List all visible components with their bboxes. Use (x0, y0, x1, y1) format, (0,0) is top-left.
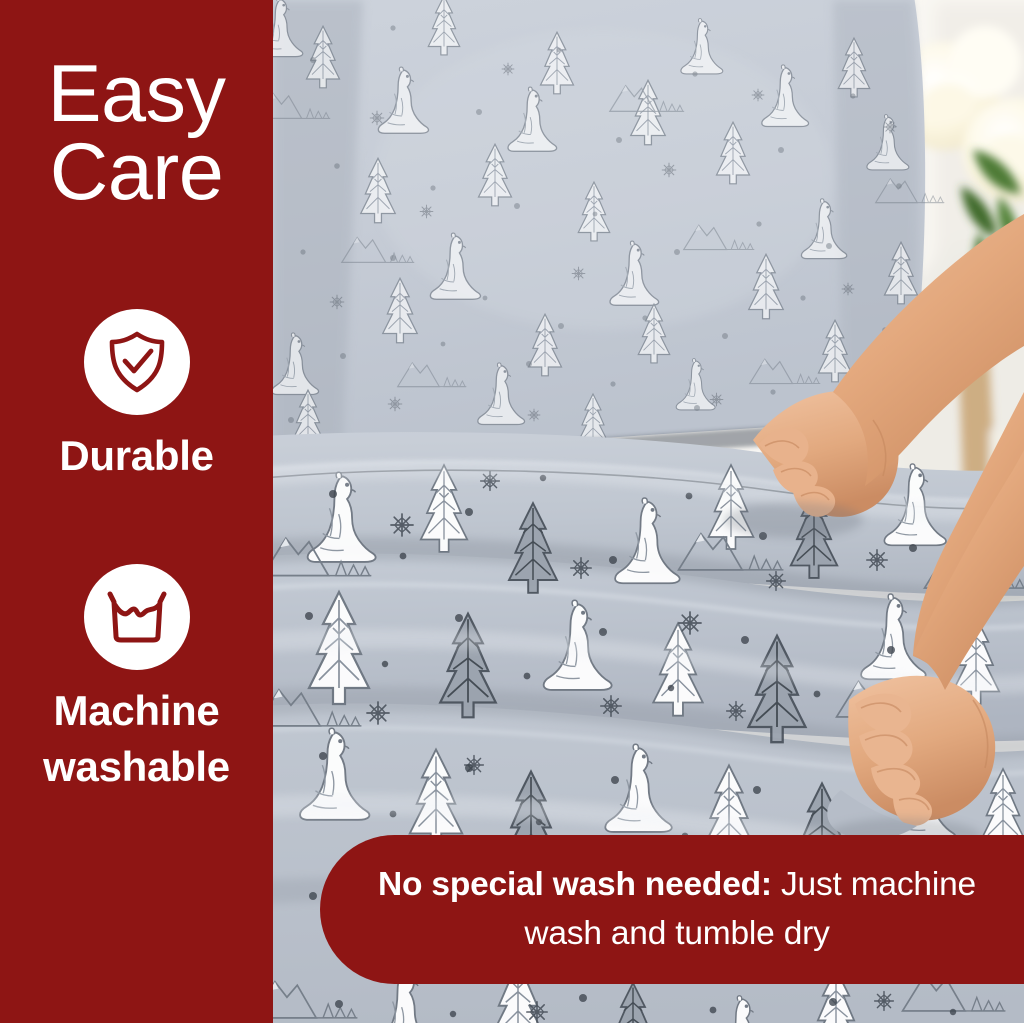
machine-wash-tub-icon (104, 588, 170, 646)
feature-machine-washable: Machine washable (0, 564, 273, 795)
caption-bold-prefix: No special wash needed: (378, 866, 772, 903)
product-infographic-canvas: Easy Care Durable (0, 0, 1024, 1023)
feature-durable: Durable (0, 309, 273, 484)
page-title: Easy Care (0, 56, 273, 212)
easy-care-panel: Easy Care Durable (0, 0, 273, 1023)
durable-badge (84, 309, 190, 415)
feature-durable-label: Durable (0, 428, 273, 484)
feature-machine-washable-label: Machine washable (0, 683, 273, 795)
caption-banner: No special wash needed: Just machine was… (320, 835, 1024, 984)
machine-washable-badge (84, 564, 190, 670)
caption-text: No special wash needed: Just machine was… (320, 861, 1024, 957)
shield-check-icon (106, 330, 168, 394)
